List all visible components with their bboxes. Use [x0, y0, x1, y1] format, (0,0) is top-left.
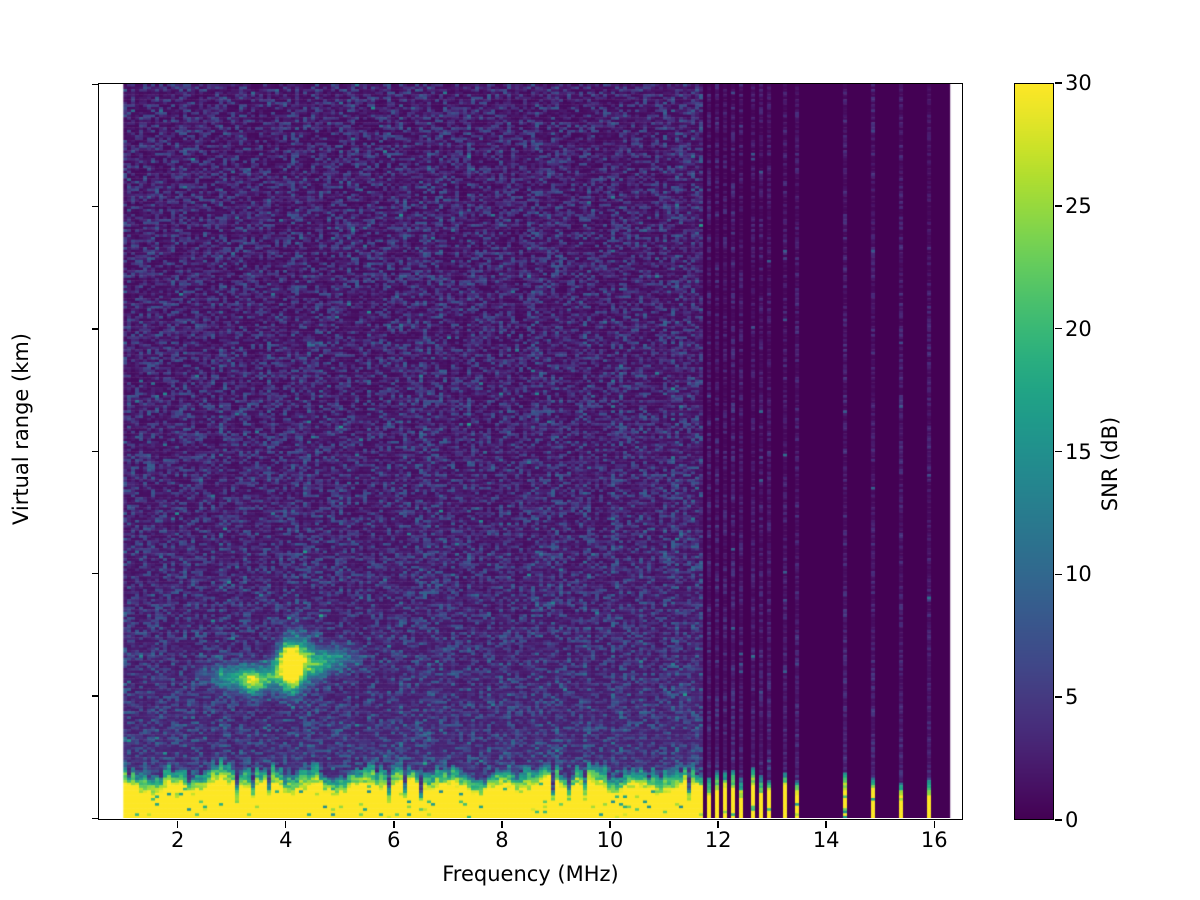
y-tick-mark: [92, 695, 99, 696]
ionogram-heatmap: [99, 84, 961, 818]
x-tick-label: 16: [894, 828, 974, 852]
colorbar-tick-label: 15: [1065, 440, 1092, 464]
x-tick-label: 14: [786, 828, 866, 852]
colorbar-tick-mark: [1055, 205, 1062, 206]
colorbar-tick-label: 5: [1065, 685, 1078, 709]
x-tick-label: 4: [246, 828, 326, 852]
colorbar-tick-mark: [1055, 819, 1062, 820]
y-tick-mark: [92, 573, 99, 574]
x-tick-mark: [609, 821, 610, 828]
colorbar-tick-mark: [1055, 82, 1062, 83]
x-tick-mark: [285, 821, 286, 828]
colorbar-tick-label: 0: [1065, 808, 1078, 832]
colorbar-tick-label: 30: [1065, 71, 1092, 95]
colorbar-tick-label: 10: [1065, 562, 1092, 586]
x-tick-mark: [717, 821, 718, 828]
colorbar-tick-mark: [1055, 451, 1062, 452]
x-tick-mark: [825, 821, 826, 828]
y-tick-mark: [92, 818, 99, 819]
colorbar-tick-mark: [1055, 328, 1062, 329]
x-tick-mark: [393, 821, 394, 828]
x-tick-mark: [934, 821, 935, 828]
colorbar-label: SNR (dB): [1098, 314, 1122, 614]
y-tick-mark: [92, 451, 99, 452]
x-tick-mark: [177, 821, 178, 828]
x-tick-label: 12: [678, 828, 758, 852]
x-tick-label: 2: [138, 828, 218, 852]
x-tick-label: 6: [354, 828, 434, 852]
x-tick-mark: [501, 821, 502, 828]
colorbar-tick-label: 20: [1065, 317, 1092, 341]
ionogram-axes: [98, 83, 963, 820]
colorbar-tick-mark: [1055, 574, 1062, 575]
y-tick-mark: [92, 206, 99, 207]
y-axis-label: Virtual range (km): [9, 179, 33, 679]
colorbar: [1014, 83, 1054, 820]
y-tick-mark: [92, 84, 99, 85]
y-tick-mark: [92, 328, 99, 329]
colorbar-tick-mark: [1055, 696, 1062, 697]
x-tick-label: 8: [462, 828, 542, 852]
colorbar-gradient: [1015, 84, 1053, 819]
colorbar-tick-label: 25: [1065, 194, 1092, 218]
ionogram-figure: IRF Kiruna Ionosonde KI167 2025-12-31 00…: [0, 0, 1200, 900]
x-tick-label: 10: [570, 828, 650, 852]
x-axis-label: Frequency (MHz): [98, 862, 963, 886]
